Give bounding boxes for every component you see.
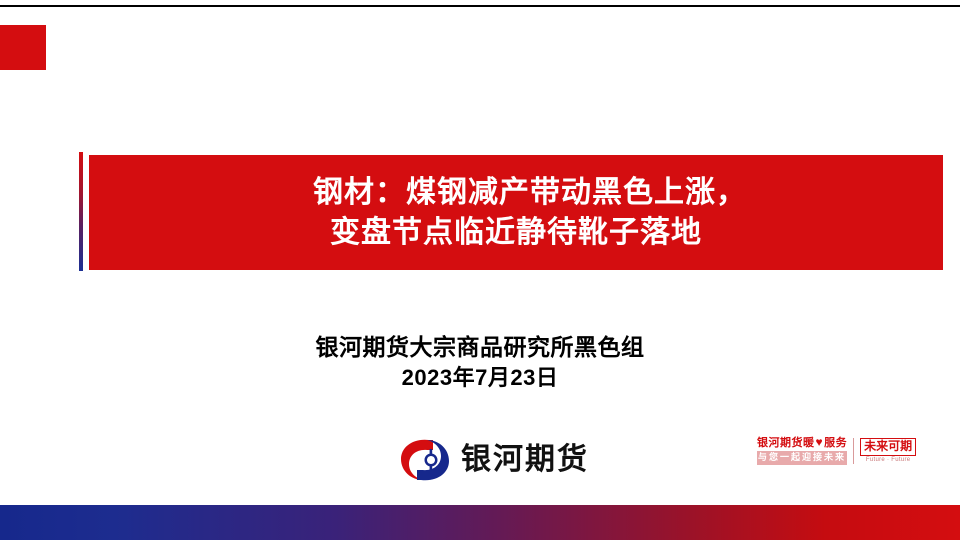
service-badge: 银河期货暖 ♥ 服务 与您一起迎接未来 未来可期 Future · Future [757, 437, 916, 465]
subtitle-organization: 银河期货大宗商品研究所黑色组 [0, 332, 960, 363]
service-badge-sub-slogan: 与您一起迎接未来 [757, 451, 847, 465]
title-accent-bar [79, 152, 83, 271]
galaxy-futures-swirl-icon [399, 437, 451, 483]
brand-wordmark: 银河期货 [461, 445, 589, 475]
service-badge-seal-group: 未来可期 Future · Future [860, 438, 916, 464]
brand-logo-lockup: 银河期货 [399, 437, 589, 483]
service-badge-seal-english: Future · Future [866, 457, 911, 464]
service-badge-divider [853, 438, 854, 464]
bottom-gradient-bar [0, 505, 960, 540]
service-badge-slogan-group: 银河期货暖 ♥ 服务 与您一起迎接未来 [757, 437, 847, 465]
service-badge-slogan: 银河期货暖 ♥ 服务 [757, 437, 847, 449]
top-divider-rule [0, 5, 960, 7]
title-line-2: 变盘节点临近静待靴子落地 [330, 213, 702, 253]
title-banner: 钢材：煤钢减产带动黑色上涨， 变盘节点临近静待靴子落地 [89, 155, 943, 270]
service-slogan-part-2: 服务 [824, 437, 847, 449]
subtitle-date: 2023年7月23日 [0, 363, 960, 394]
title-line-1: 钢材：煤钢减产带动黑色上涨， [285, 173, 747, 213]
service-slogan-part-1: 银河期货暖 [757, 437, 815, 449]
corner-accent-block [0, 25, 46, 70]
heart-icon: ♥ [816, 436, 824, 448]
title-slide: 钢材：煤钢减产带动黑色上涨， 变盘节点临近静待靴子落地 银河期货大宗商品研究所黑… [0, 0, 960, 540]
service-badge-seal: 未来可期 [860, 438, 916, 456]
subtitle-block: 银河期货大宗商品研究所黑色组 2023年7月23日 [0, 332, 960, 394]
